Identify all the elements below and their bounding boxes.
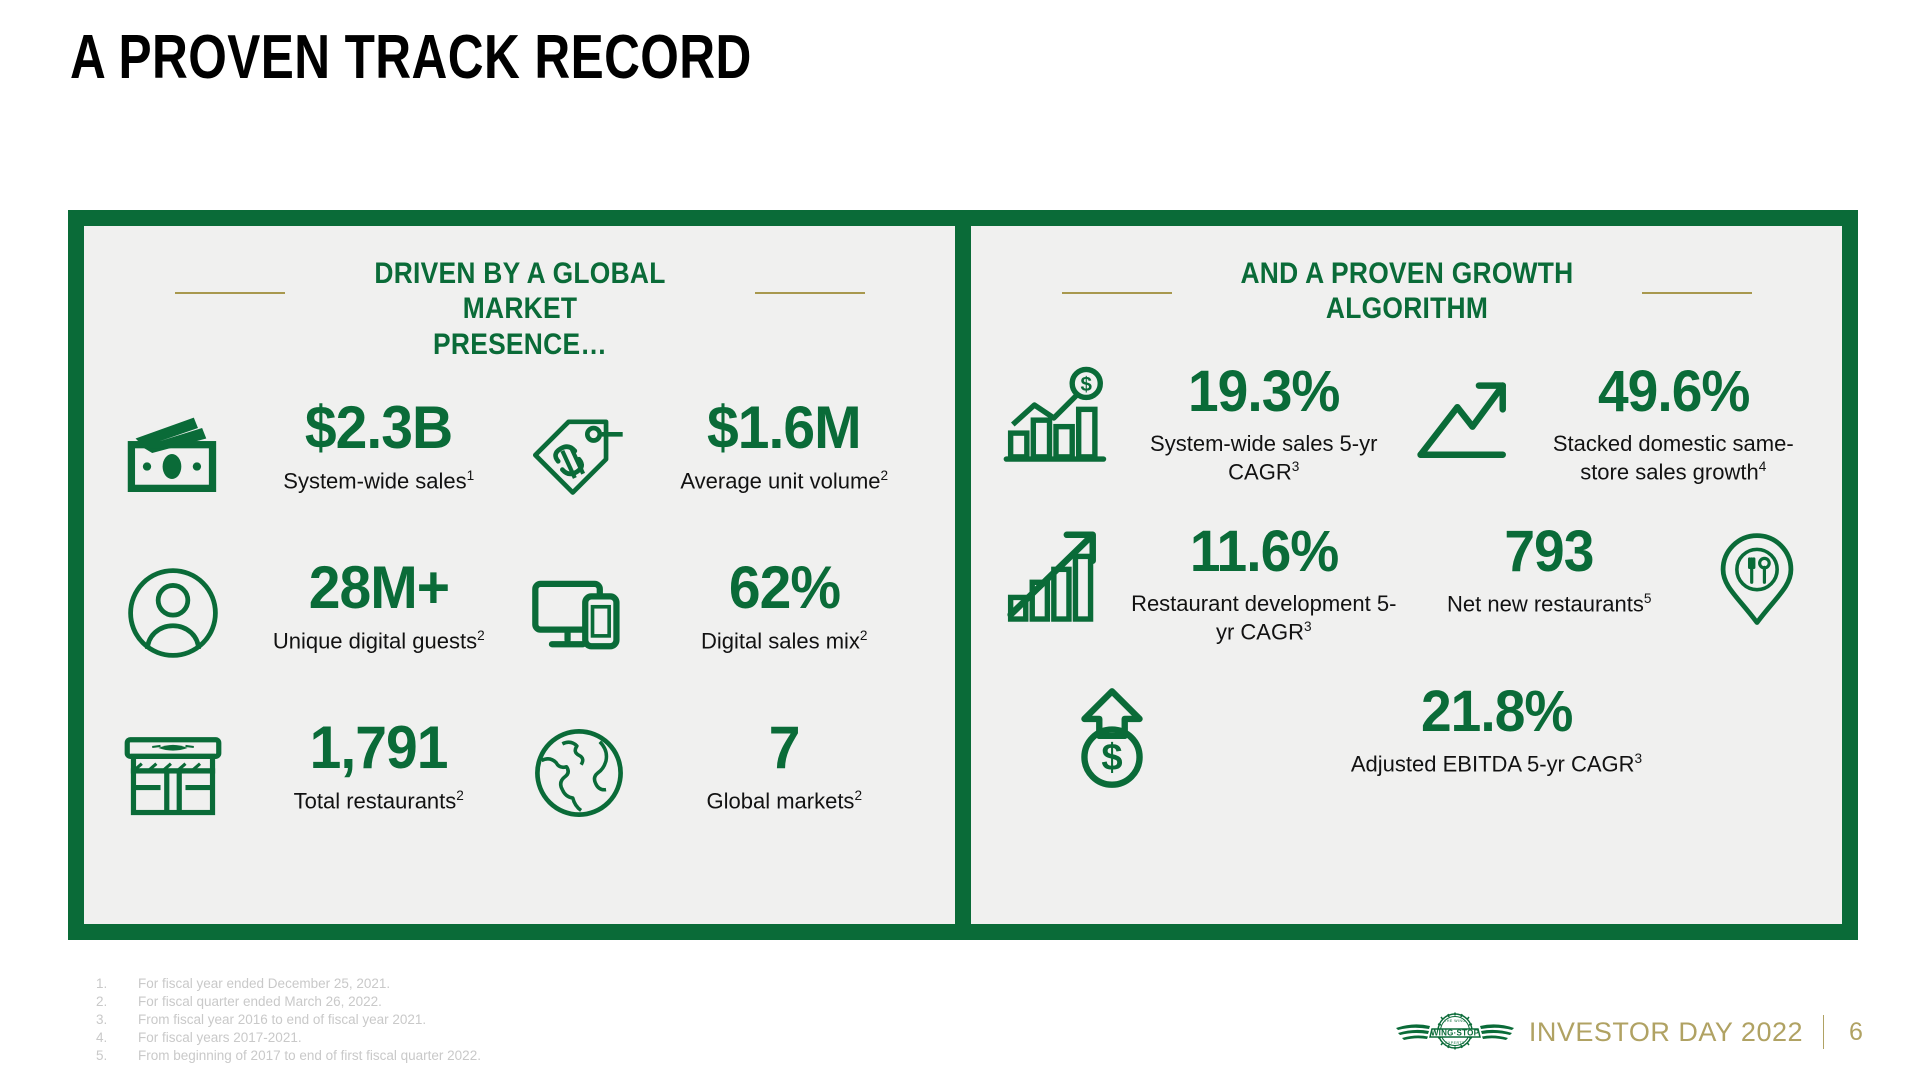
stat-net-new-restaurants: 793 Net new restaurants5 bbox=[1407, 509, 1817, 669]
footnote-text: For fiscal quarter ended March 26, 2022. bbox=[138, 993, 382, 1011]
stat-body: 28M+ Unique digital guests2 bbox=[242, 558, 516, 655]
stat-value: 62% bbox=[729, 558, 840, 618]
stat-value: 28M+ bbox=[309, 558, 449, 618]
globe-icon bbox=[524, 718, 634, 828]
footnote-item: 5. From beginning of 2017 to end of firs… bbox=[96, 1047, 481, 1065]
header-rule-left-icon bbox=[1062, 292, 1172, 294]
cash-stack-icon bbox=[118, 398, 228, 508]
page-title: A PROVEN TRACK RECORD bbox=[70, 22, 752, 93]
footer-brand: WING·STOP THE WING EXPERTS INVESTOR DAY … bbox=[1395, 1006, 1868, 1058]
stat-body: $2.3B System-wide sales1 bbox=[242, 398, 516, 495]
stat-body: 21.8% Adjusted EBITDA 5-yr CAGR3 bbox=[1181, 683, 1812, 778]
map-pin-utensils-icon bbox=[1702, 523, 1812, 633]
stat-value: 7 bbox=[769, 718, 800, 778]
footnote-text: For fiscal year ended December 25, 2021. bbox=[138, 975, 390, 993]
stat-label: Stacked domestic same-store sales growth… bbox=[1535, 430, 1813, 487]
stat-stacked-domestic-sss-growth: 49.6% Stacked domestic same-store sales … bbox=[1407, 349, 1817, 509]
left-panel: DRIVEN BY A GLOBAL MARKET PRESENCE… bbox=[84, 226, 955, 924]
footnote-number: 3. bbox=[96, 1011, 138, 1029]
stat-average-unit-volume: $1.6M Average unit volume2 bbox=[520, 384, 926, 544]
header-rule-right-icon bbox=[1642, 292, 1752, 294]
stat-value: 11.6% bbox=[1190, 523, 1338, 581]
right-stats-grid: $ 19.3% System-wide sales 5-yr CAGR3 bbox=[971, 327, 1842, 924]
stat-body: 19.3% System-wide sales 5-yr CAGR3 bbox=[1125, 363, 1403, 487]
stat-body: 62% Digital sales mix2 bbox=[648, 558, 922, 655]
bar-chart-dollar-icon: $ bbox=[1001, 363, 1111, 473]
trend-arrow-up-icon bbox=[1411, 363, 1521, 473]
stat-body: 11.6% Restaurant development 5-yr CAGR3 bbox=[1125, 523, 1403, 647]
right-panel-header: AND A PROVEN GROWTH ALGORITHM bbox=[971, 256, 1842, 327]
footnote-item: 4. For fiscal years 2017-2021. bbox=[96, 1029, 481, 1047]
price-tag-dollar-icon bbox=[524, 398, 634, 508]
content-frame: DRIVEN BY A GLOBAL MARKET PRESENCE… bbox=[68, 210, 1858, 940]
stat-unique-digital-guests: 28M+ Unique digital guests2 bbox=[114, 544, 520, 704]
storefront-icon bbox=[118, 718, 228, 828]
footnote-number: 4. bbox=[96, 1029, 138, 1047]
user-avatar-icon bbox=[118, 558, 228, 668]
svg-text:EXPERTS: EXPERTS bbox=[1445, 1041, 1465, 1045]
bar-chart-arrow-icon bbox=[1001, 523, 1111, 633]
stat-label: Total restaurants2 bbox=[294, 787, 464, 815]
stat-label: Digital sales mix2 bbox=[701, 627, 868, 655]
left-panel-header: DRIVEN BY A GLOBAL MARKET PRESENCE… bbox=[84, 256, 955, 362]
stat-body: 49.6% Stacked domestic same-store sales … bbox=[1535, 363, 1813, 487]
stat-global-markets: 7 Global markets2 bbox=[520, 704, 926, 864]
stat-adjusted-ebitda-cagr: $ 21.8% Adjusted EBITDA 5-yr CAGR3 bbox=[997, 669, 1816, 829]
stat-body: 793 Net new restaurants5 bbox=[1411, 523, 1689, 618]
stat-label: Restaurant development 5-yr CAGR3 bbox=[1125, 590, 1403, 647]
page-number: 6 bbox=[1844, 1018, 1868, 1047]
svg-text:$: $ bbox=[1081, 373, 1093, 396]
svg-text:THE WING: THE WING bbox=[1444, 1019, 1466, 1023]
stat-total-restaurants: 1,791 Total restaurants2 bbox=[114, 704, 520, 864]
left-panel-header-text: DRIVEN BY A GLOBAL MARKET PRESENCE… bbox=[330, 256, 708, 362]
stat-label: System-wide sales 5-yr CAGR3 bbox=[1125, 430, 1403, 487]
stat-label: System-wide sales1 bbox=[283, 467, 474, 495]
footnote-number: 1. bbox=[96, 975, 138, 993]
right-panel-header-text: AND A PROVEN GROWTH ALGORITHM bbox=[1217, 256, 1595, 327]
stat-value: 19.3% bbox=[1188, 363, 1339, 421]
left-stats-grid: $2.3B System-wide sales1 bbox=[84, 362, 955, 924]
stat-value: $1.6M bbox=[707, 398, 861, 458]
dollar-coin-up-arrow-icon: $ bbox=[1057, 683, 1167, 793]
stat-restaurant-development-cagr: 11.6% Restaurant development 5-yr CAGR3 bbox=[997, 509, 1407, 669]
footnote-item: 1. For fiscal year ended December 25, 20… bbox=[96, 975, 481, 993]
stat-value: 21.8% bbox=[1421, 683, 1572, 741]
svg-text:WING·STOP: WING·STOP bbox=[1431, 1029, 1480, 1038]
footnote-item: 3. From fiscal year 2016 to end of fisca… bbox=[96, 1011, 481, 1029]
stat-value: 793 bbox=[1505, 523, 1594, 581]
footnote-text: For fiscal years 2017-2021. bbox=[138, 1029, 302, 1047]
footnote-text: From beginning of 2017 to end of first f… bbox=[138, 1047, 481, 1065]
header-rule-left-icon bbox=[175, 292, 285, 294]
wingstop-logo-icon: WING·STOP THE WING EXPERTS bbox=[1395, 1006, 1515, 1058]
footnote-number: 5. bbox=[96, 1047, 138, 1065]
devices-icon bbox=[524, 558, 634, 668]
stat-digital-sales-mix: 62% Digital sales mix2 bbox=[520, 544, 926, 704]
stat-value: 1,791 bbox=[310, 718, 448, 778]
stat-body: 1,791 Total restaurants2 bbox=[242, 718, 516, 815]
footnote-text: From fiscal year 2016 to end of fiscal y… bbox=[138, 1011, 426, 1029]
stat-body: 7 Global markets2 bbox=[648, 718, 922, 815]
stat-value: $2.3B bbox=[305, 398, 452, 458]
footnote-item: 2. For fiscal quarter ended March 26, 20… bbox=[96, 993, 481, 1011]
stat-label: Average unit volume2 bbox=[680, 467, 888, 495]
stat-label: Global markets2 bbox=[706, 787, 862, 815]
stat-label: Unique digital guests2 bbox=[273, 627, 485, 655]
footnotes-list: 1. For fiscal year ended December 25, 20… bbox=[96, 975, 481, 1065]
right-panel: AND A PROVEN GROWTH ALGORITHM bbox=[971, 226, 1842, 924]
stat-body: $1.6M Average unit volume2 bbox=[648, 398, 922, 495]
stat-label: Adjusted EBITDA 5-yr CAGR3 bbox=[1351, 750, 1642, 778]
stat-system-wide-sales-cagr: $ 19.3% System-wide sales 5-yr CAGR3 bbox=[997, 349, 1407, 509]
stat-value: 49.6% bbox=[1598, 363, 1749, 421]
event-label: INVESTOR DAY 2022 bbox=[1529, 1017, 1803, 1048]
svg-text:$: $ bbox=[1101, 736, 1122, 779]
stat-system-wide-sales: $2.3B System-wide sales1 bbox=[114, 384, 520, 544]
footer-divider bbox=[1823, 1015, 1824, 1049]
header-rule-right-icon bbox=[755, 292, 865, 294]
footnote-number: 2. bbox=[96, 993, 138, 1011]
stat-label: Net new restaurants5 bbox=[1447, 590, 1651, 618]
